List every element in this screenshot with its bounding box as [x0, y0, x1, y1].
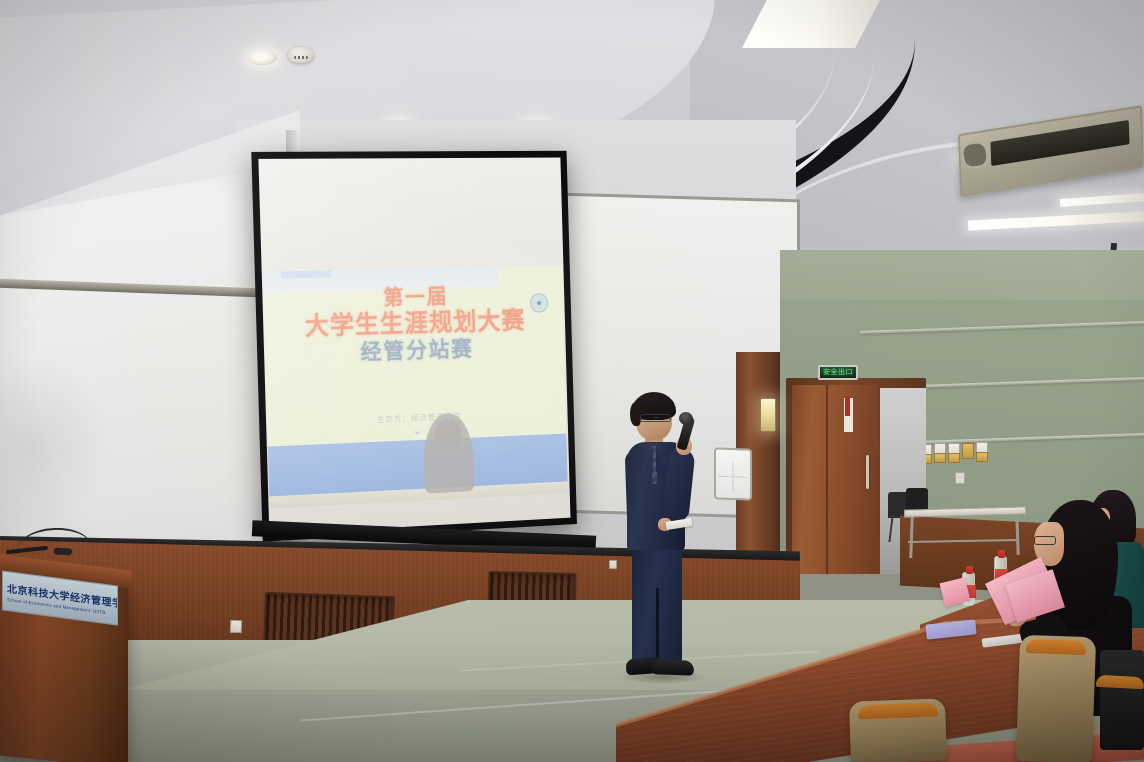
projected-slide: 第一届 大学生生涯规划大赛 经管分站赛 主办方：经济管理学院 ⌄ ● [263, 266, 568, 508]
wall-plaque [934, 453, 946, 463]
chair-dark [1100, 650, 1144, 750]
glasses-icon [1034, 536, 1056, 545]
slide-top-accent [281, 266, 331, 279]
speaker-shoe-right [652, 659, 694, 675]
exit-sign-label: 安全出口 [823, 369, 853, 376]
wall-outlet [230, 620, 242, 633]
wall-plaque [976, 452, 988, 462]
chevron-down-icon: ⌄ [408, 426, 427, 442]
door-leaf-seam [826, 385, 828, 574]
door-handle[interactable] [866, 455, 869, 489]
wall-plaque [962, 443, 974, 459]
projection-screen-surface: 第一届 大学生生涯规划大赛 经管分站赛 主办方：经济管理学院 ⌄ ● [258, 158, 570, 535]
podium-microphone-base [54, 548, 72, 556]
projection-screen: 第一届 大学生生涯规划大赛 经管分站赛 主办方：经济管理学院 ⌄ ● [251, 151, 577, 542]
chair-rim [1026, 639, 1086, 655]
slide-title-block: 第一届 大学生生涯规划大赛 经管分站赛 [263, 284, 564, 367]
smoke-detector-icon [288, 47, 314, 63]
lecture-hall-photo: 安全出口 第一届 大学生生涯规划大赛 经管分站赛 主办方：经济管理学院 ⌄ ● [0, 0, 1144, 762]
exit-sign: 安全出口 [818, 365, 858, 380]
speaker-hair-side [630, 402, 641, 426]
glasses-icon [640, 414, 671, 422]
downlight-icon [247, 50, 277, 65]
wall-outlet [955, 472, 965, 484]
speaker-person [612, 392, 702, 686]
door-red-strip [845, 396, 850, 416]
chair-rim [1096, 675, 1144, 689]
chair-rim [858, 703, 938, 720]
wall-sconce-light [760, 398, 776, 432]
wall-plaque [948, 453, 960, 463]
speaker-leg-seam [656, 588, 659, 666]
mini-whiteboard-lines [718, 461, 748, 492]
